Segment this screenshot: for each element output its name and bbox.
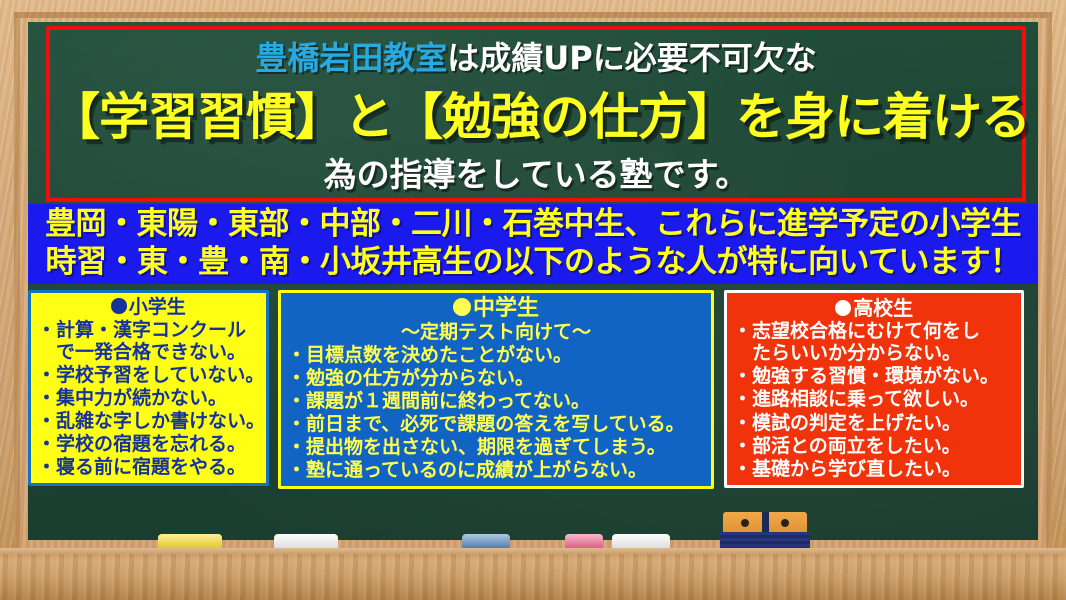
list-item: ・塾に通っているのに成績が上がらない。 xyxy=(287,459,705,481)
column-junior-high-title: 中学生 xyxy=(287,297,705,322)
eraser-dot-right xyxy=(781,519,789,527)
list-item: ・勉強する習慣・環境がない。 xyxy=(733,365,1015,387)
list-item: ・基礎から学び直したい。 xyxy=(733,458,1015,480)
column-elementary-title: 小学生 xyxy=(37,297,260,318)
chalkboard-surface: 豊橋岩田教室は成績UPに必要不可欠な 【学習習慣】と【勉強の仕方】を身に着ける … xyxy=(28,22,1038,540)
list-item-text: ・模試の判定を上げたい。 xyxy=(733,412,961,434)
column-junior-high-subtitle: ～定期テスト向けて～ xyxy=(287,322,705,343)
list-item: ・学校予習をしていない。 xyxy=(37,364,260,386)
column-high-school-title-text: 高校生 xyxy=(853,296,913,320)
list-item: ・進路相談に乗って欲しい。 xyxy=(733,388,1015,410)
list-item: ・乱雑な字しか書けない。 xyxy=(37,410,260,432)
column-junior-high-list: ・目標点数を決めたことがない。 ・勉強の仕方が分からない。 ・課題が１週間前に終… xyxy=(287,344,705,481)
chalk-tray-ledge xyxy=(0,550,1066,600)
list-item: ・部活との両立をしたい。 xyxy=(733,435,1015,457)
bullet-dot-icon xyxy=(111,298,127,314)
list-item-text: ・課題が１週間前に終わってない。 xyxy=(287,390,590,412)
list-item-text: ・提出物を出さない、期限を過ぎてしまう。 xyxy=(287,436,666,458)
list-item-text: ・部活との両立をしたい。 xyxy=(733,435,961,457)
column-high-school: 高校生 ・志望校合格にむけて何をし たらいいか分からない。 ・勉強する習慣・環境… xyxy=(724,290,1024,488)
header-line-1: 豊橋岩田教室は成績UPに必要不可欠な xyxy=(50,42,1022,74)
list-item-text: ・塾に通っているのに成績が上がらない。 xyxy=(287,459,647,481)
header-line-2: 【学習習慣】と【勉強の仕方】を身に着ける xyxy=(50,92,1022,142)
column-high-school-list: ・志望校合格にむけて何をし たらいいか分からない。 ・勉強する習慣・環境がない。… xyxy=(733,320,1015,479)
list-item: ・計算・漢字コンクール で一発合格できない。 xyxy=(37,319,260,363)
list-item-text: ・学校の宿題を忘れる。 xyxy=(37,433,246,455)
list-item-text: ・志望校合格にむけて何をし xyxy=(733,320,980,342)
list-item: ・勉強の仕方が分からない。 xyxy=(287,367,705,389)
header-classroom-name: 豊橋岩田教室 xyxy=(255,39,447,77)
student-category-columns: 小学生 ・計算・漢字コンクール で一発合格できない。 ・学校予習をしていない。 … xyxy=(28,290,1038,512)
bullet-dot-icon xyxy=(453,298,471,316)
list-item-continuation: たらいいか分からない。 xyxy=(733,342,1015,364)
list-item-text: ・集中力が続かない。 xyxy=(37,387,227,409)
bullet-dot-icon xyxy=(835,300,851,316)
banner-line-2: 時習・東・豊・南・小坂井高生の以下のような人が特に向いています！ xyxy=(28,243,1038,281)
header-line-1-rest: は成績UPに必要不可欠な xyxy=(447,39,816,77)
list-item-text: ・進路相談に乗って欲しい。 xyxy=(733,388,979,410)
column-junior-high: 中学生 ～定期テスト向けて～ ・目標点数を決めたことがない。 ・勉強の仕方が分か… xyxy=(278,290,714,489)
list-item-text: ・計算・漢字コンクール xyxy=(37,319,246,341)
list-item: ・学校の宿題を忘れる。 xyxy=(37,433,260,455)
list-item-text: ・基礎から学び直したい。 xyxy=(733,458,961,480)
list-item: ・提出物を出さない、期限を過ぎてしまう。 xyxy=(287,436,705,458)
list-item-text: ・勉強の仕方が分からない。 xyxy=(287,367,534,389)
list-item-text: ・乱雑な字しか書けない。 xyxy=(37,410,265,432)
column-high-school-title: 高校生 xyxy=(733,297,1015,319)
column-junior-high-title-text: 中学生 xyxy=(473,296,539,321)
eraser-notch xyxy=(762,512,769,533)
chalk-tray-lip xyxy=(0,548,1066,554)
header-panel: 豊橋岩田教室は成績UPに必要不可欠な 【学習習慣】と【勉強の仕方】を身に着ける … xyxy=(46,26,1026,202)
chalkboard-poster: 豊橋岩田教室は成績UPに必要不可欠な 【学習習慣】と【勉強の仕方】を身に着ける … xyxy=(0,0,1066,600)
list-item-text: ・学校予習をしていない。 xyxy=(37,364,264,386)
header-line-3: 為の指導をしている塾です。 xyxy=(50,158,1022,191)
target-schools-banner: 豊岡・東陽・東部・中部・二川・石巻中生、これらに進学予定の小学生 時習・東・豊・… xyxy=(28,204,1038,284)
column-elementary-list: ・計算・漢字コンクール で一発合格できない。 ・学校予習をしていない。 ・集中力… xyxy=(37,319,260,478)
list-item: ・目標点数を決めたことがない。 xyxy=(287,344,705,366)
list-item: ・集中力が続かない。 xyxy=(37,387,260,409)
column-elementary: 小学生 ・計算・漢字コンクール で一発合格できない。 ・学校予習をしていない。 … xyxy=(28,290,269,486)
list-item-text: ・勉強する習慣・環境がない。 xyxy=(733,365,999,387)
banner-line-1: 豊岡・東陽・東部・中部・二川・石巻中生、これらに進学予定の小学生 xyxy=(28,205,1038,243)
list-item: ・模試の判定を上げたい。 xyxy=(733,412,1015,434)
list-item: ・前日まで、必死で課題の答えを写している。 xyxy=(287,413,705,435)
eraser-dot-left xyxy=(741,519,749,527)
list-item-text: ・前日まで、必死で課題の答えを写している。 xyxy=(287,413,685,435)
list-item-text: ・寝る前に宿題をやる。 xyxy=(37,456,246,478)
list-item-text: ・目標点数を決めたことがない。 xyxy=(287,344,572,366)
column-elementary-title-text: 小学生 xyxy=(129,296,186,318)
list-item-continuation: で一発合格できない。 xyxy=(37,341,260,363)
list-item: ・課題が１週間前に終わってない。 xyxy=(287,390,705,412)
list-item: ・寝る前に宿題をやる。 xyxy=(37,456,260,478)
list-item: ・志望校合格にむけて何をし たらいいか分からない。 xyxy=(733,320,1015,364)
